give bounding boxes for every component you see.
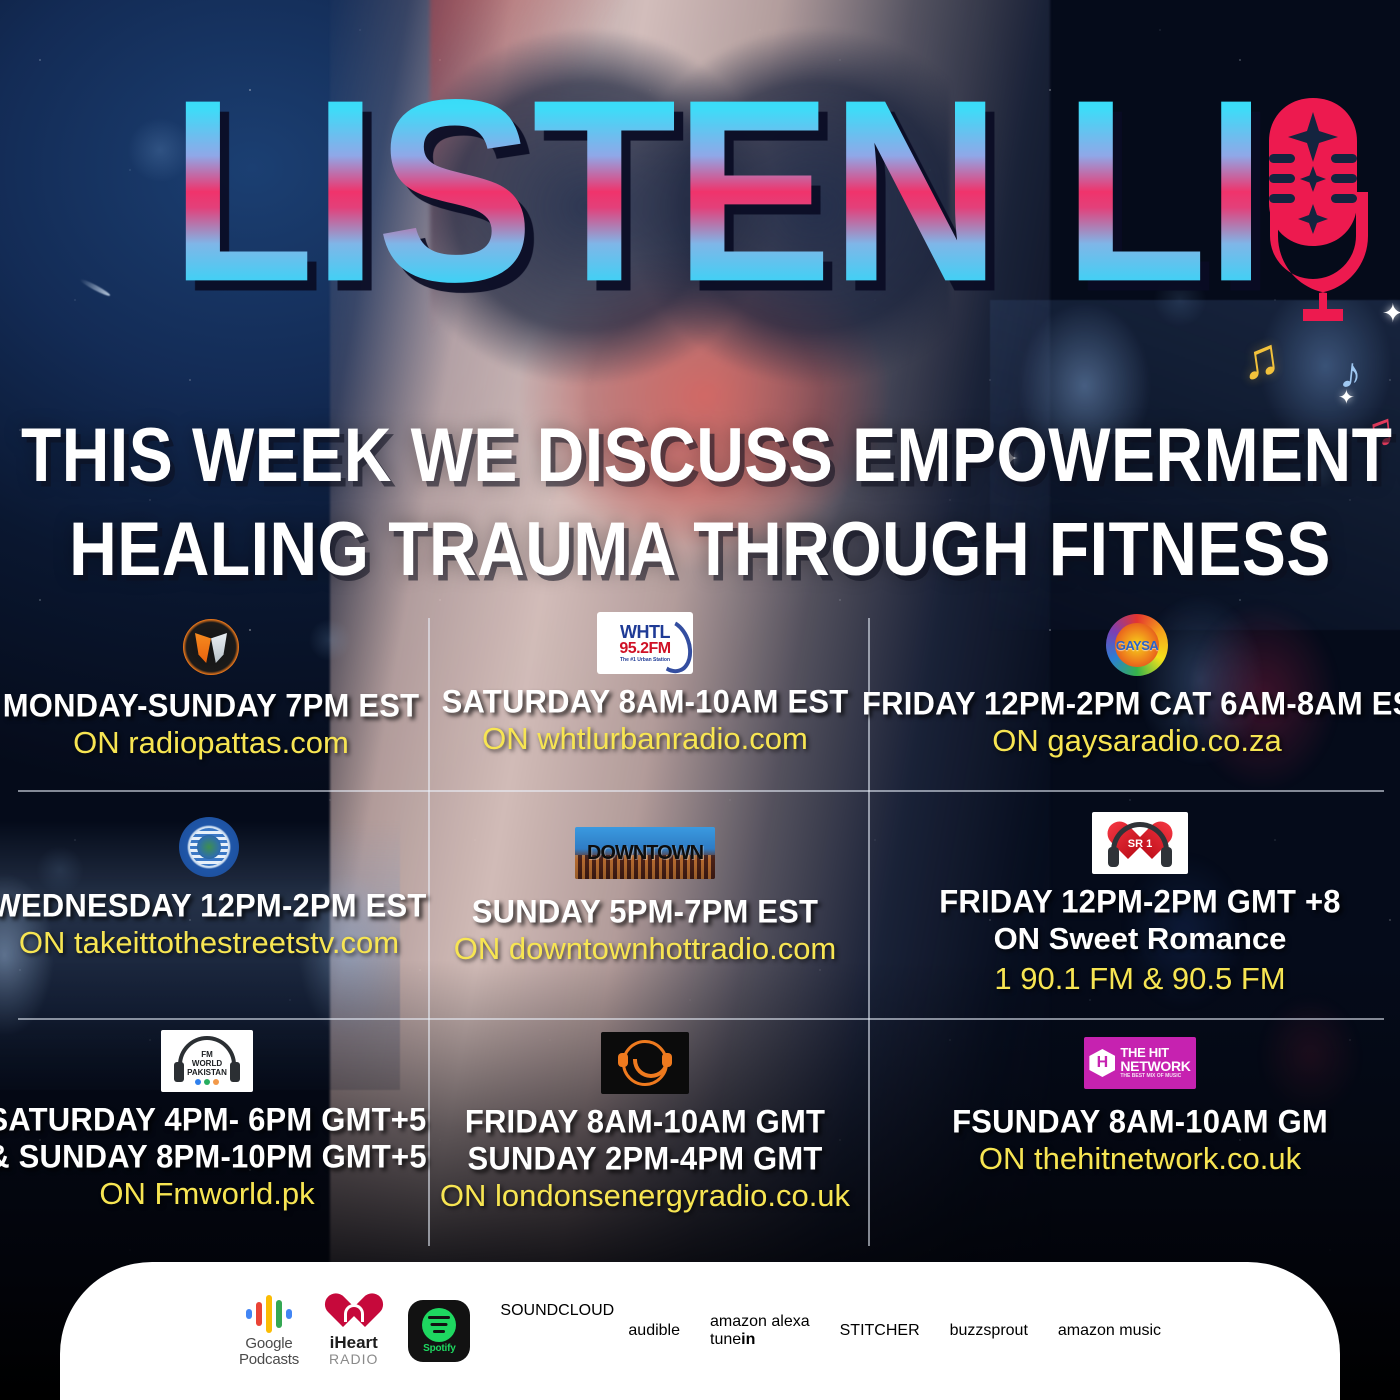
tunein-label-a: tune <box>710 1331 741 1348</box>
whtl-tagline: The #1 Urban Station <box>620 657 670 664</box>
stitcher-icon: STITCHER <box>840 1322 920 1340</box>
the-hit-network-logo: H THE HIT NETWORK THE BEST MIX OF MUSIC <box>1084 1037 1196 1089</box>
gaysa-wordmark: GAYSA <box>1116 638 1159 653</box>
downtown-hot-radio-logo: DOWNTOWN <box>575 827 715 879</box>
platform-audible[interactable]: audible <box>628 1322 680 1340</box>
dot-icon <box>204 1079 210 1085</box>
schedule-time: FRIDAY 12PM-2PM GMT +8 <box>880 882 1400 921</box>
schedule-station-name: ON Sweet Romance <box>880 919 1400 959</box>
google-podcasts-label-line2: Podcasts <box>239 1352 299 1368</box>
radio-pattas-fox-logo <box>183 619 239 675</box>
google-podcasts-label-line1: Google <box>239 1336 299 1352</box>
whtl-95-2-fm-logo: WHTL 95.2FM The #1 Urban Station <box>597 612 693 674</box>
wave <box>431 1323 448 1326</box>
take-it-to-the-streets-tv-logo <box>179 817 239 877</box>
amazon-alexa-tunein-icon: amazon alexa tunein <box>710 1313 810 1349</box>
sr1-wordmark: SR 1 <box>1128 838 1152 850</box>
smiley-icon <box>622 1040 668 1086</box>
schedule-time: FRIDAY 8AM-10AM GMT <box>420 1102 870 1141</box>
schedule-time-2: SUNDAY 2PM-4PM GMT <box>420 1139 870 1178</box>
dot-icon <box>213 1079 219 1085</box>
fmworld-line3: PAKISTAN <box>187 1068 227 1077</box>
station-logo: H THE HIT NETWORK THE BEST MIX OF MUSIC <box>880 1030 1400 1096</box>
schedule-grid: MONDAY-SUNDAY 7PM EST ON radiopattas.com… <box>0 608 1400 1268</box>
schedule-cell[interactable]: MONDAY-SUNDAY 7PM EST ON radiopattas.com <box>0 614 436 763</box>
soundcloud-label: SOUNDCLOUD <box>500 1302 598 1320</box>
schedule-cell[interactable]: GAYSA FRIDAY 12PM-2PM CAT 6AM-8AM EST ON… <box>862 612 1400 761</box>
schedule-time: MONDAY-SUNDAY 7PM EST <box>0 686 436 725</box>
amazon-label: amazon <box>710 1313 767 1330</box>
schedule-time: FRIDAY 12PM-2PM CAT 6AM-8AM EST <box>862 684 1400 723</box>
title-area: LISTEN LIVE <box>0 62 1400 322</box>
sweet-romance-sr1-logo: SR 1 <box>1092 812 1188 874</box>
fmworld-dots <box>195 1079 219 1085</box>
bar <box>266 1295 272 1333</box>
schedule-station-url[interactable]: ON takeittothestreetstv.com <box>0 923 434 963</box>
platform-stitcher[interactable]: STITCHER <box>840 1322 920 1340</box>
iheart-label-line2: RADIO <box>329 1352 378 1367</box>
schedule-frequencies: 1 90.1 FM & 90.5 FM <box>880 959 1400 999</box>
grid-divider-horizontal <box>18 790 1384 792</box>
headphone-ear-icon <box>662 1053 672 1067</box>
spotify-label: Spotify <box>423 1343 456 1354</box>
schedule-station-url[interactable]: ON whtlurbanradio.com <box>420 719 870 759</box>
stitcher-label: STITCHER <box>840 1322 920 1340</box>
google-podcasts-label: Google Podcasts <box>239 1336 299 1368</box>
schedule-cell[interactable]: DOWNTOWN SUNDAY 5PM-7PM EST ON downtownh… <box>420 820 870 969</box>
subtitle: THIS WEEK WE DISCUSS EMPOWERMENT & HEALI… <box>21 408 1379 596</box>
fm-world-pakistan-logo: FM WORLD PAKISTAN <box>161 1030 253 1092</box>
station-logo: SR 1 <box>880 810 1400 876</box>
alexa-label: alexa <box>771 1313 809 1330</box>
schedule-station-url[interactable]: ON downtownhottradio.com <box>420 929 870 969</box>
subtitle-line-1: THIS WEEK WE DISCUSS EMPOWERMENT & <box>21 408 1379 502</box>
platform-spotify[interactable]: Spotify <box>408 1300 470 1362</box>
schedule-time-2: & SUNDAY 8PM-10PM GMT+5 <box>0 1137 432 1176</box>
schedule-station-url[interactable]: ON thehitnetwork.co.uk <box>880 1139 1400 1179</box>
platform-soundcloud[interactable]: SOUNDCLOUD <box>500 1302 598 1360</box>
schedule-time: SATURDAY 8AM-10AM EST <box>420 682 870 721</box>
schedule-time: SATURDAY 4PM- 6PM GMT+5 <box>0 1100 432 1139</box>
platform-google-podcasts[interactable]: Google Podcasts <box>239 1295 299 1368</box>
spotify-icon: Spotify <box>408 1300 470 1362</box>
fmworld-line2: WORLD <box>192 1059 222 1068</box>
gaysa-radio-logo: GAYSA <box>1106 614 1168 676</box>
schedule-station-url[interactable]: ON gaysaradio.co.za <box>862 721 1400 761</box>
amazon-music-label-b: music <box>1119 1322 1161 1339</box>
iheart-label-line1: iHeart <box>330 1334 378 1351</box>
schedule-cell[interactable]: WHTL 95.2FM The #1 Urban Station SATURDA… <box>420 610 870 759</box>
hexagon-h-icon: H <box>1089 1049 1115 1077</box>
iheart-wave-icon <box>344 1304 364 1322</box>
station-logo: FM WORLD PAKISTAN <box>0 1028 432 1094</box>
schedule-cell[interactable]: FRIDAY 8AM-10AM GMT SUNDAY 2PM-4PM GMT O… <box>420 1030 870 1216</box>
station-logo <box>420 1030 870 1096</box>
tunein-label: tunein <box>710 1331 755 1348</box>
spotify-circle-icon <box>422 1308 456 1342</box>
downtown-wordmark: DOWNTOWN <box>587 842 703 865</box>
station-logo: GAYSA <box>862 612 1400 678</box>
headphone-ear-icon <box>618 1053 628 1067</box>
microphone-icon <box>1248 96 1378 331</box>
bar <box>256 1302 262 1326</box>
station-logo: WHTL 95.2FM The #1 Urban Station <box>420 610 870 676</box>
platform-amazon-music[interactable]: amazon music <box>1058 1322 1161 1340</box>
iheart-heart-icon <box>333 1295 375 1333</box>
schedule-cell[interactable]: H THE HIT NETWORK THE BEST MIX OF MUSIC … <box>880 1030 1400 1179</box>
schedule-cell[interactable]: FM WORLD PAKISTAN SATURDAY 4PM- 6PM GMT+… <box>0 1028 432 1214</box>
whtl-frequency: 95.2FM <box>619 641 670 657</box>
schedule-station-url[interactable]: ON Fmworld.pk <box>0 1174 432 1214</box>
platform-iheart-radio[interactable]: iHeart RADIO <box>329 1295 378 1367</box>
music-note-gold-icon: ♫ <box>1236 329 1284 388</box>
wave <box>428 1316 450 1319</box>
schedule-time: WEDNESDAY 12PM-2PM EST <box>0 886 434 925</box>
platform-buzzsprout[interactable]: buzzsprout <box>950 1322 1028 1340</box>
page-title: LISTEN LIVE <box>170 62 1251 322</box>
station-logo <box>0 614 436 680</box>
schedule-station-url[interactable]: ON londonsenergyradio.co.uk <box>420 1176 870 1216</box>
buzzsprout-label: buzzsprout <box>950 1322 1028 1339</box>
soundcloud-icon: SOUNDCLOUD <box>500 1302 598 1360</box>
station-logo: DOWNTOWN <box>420 820 870 886</box>
bar <box>276 1300 282 1328</box>
amazon-music-icon: amazon music <box>1058 1322 1161 1340</box>
hit-line2: NETWORK <box>1120 1059 1190 1073</box>
bar <box>286 1309 292 1319</box>
schedule-time: FSUNDAY 8AM-10AM GM <box>880 1102 1400 1141</box>
dot-icon <box>195 1079 201 1085</box>
station-logo <box>0 814 434 880</box>
londons-energy-radio-logo <box>601 1032 689 1094</box>
bar <box>246 1309 252 1319</box>
google-podcasts-icon <box>246 1295 292 1333</box>
platform-amazon-alexa-tunein[interactable]: amazon alexa tunein <box>710 1313 810 1349</box>
schedule-cell[interactable]: WEDNESDAY 12PM-2PM EST ON takeittothestr… <box>0 814 434 963</box>
hit-tagline: THE BEST MIX OF MUSIC <box>1120 1073 1190 1080</box>
tunein-label-b: in <box>741 1331 755 1348</box>
audible-icon: audible <box>628 1322 680 1340</box>
podcast-platforms-bar: Google Podcasts iHeart RADIO Spotify <box>60 1262 1340 1400</box>
music-note-blue-icon: ♪ <box>1338 351 1364 397</box>
poster-root: ✦ ✦ ✦ LISTEN LIVE ♫ ♪ ♫ <box>0 0 1400 1400</box>
amazon-music-label-a: amazon <box>1058 1322 1115 1339</box>
buzzsprout-icon: buzzsprout <box>950 1322 1028 1340</box>
audible-label: audible <box>628 1322 680 1339</box>
whtl-callsign: WHTL <box>620 623 670 641</box>
schedule-cell[interactable]: SR 1 FRIDAY 12PM-2PM GMT +8 ON Sweet Rom… <box>880 810 1400 999</box>
hit-h-letter: H <box>1097 1054 1109 1072</box>
grid-divider-horizontal <box>18 1018 1384 1020</box>
subtitle-line-2: HEALING TRAUMA THROUGH FITNESS <box>21 502 1379 596</box>
hit-wordmark: THE HIT NETWORK THE BEST MIX OF MUSIC <box>1120 1046 1190 1080</box>
wave <box>433 1330 445 1333</box>
schedule-time: SUNDAY 5PM-7PM EST <box>420 892 870 931</box>
schedule-station-url[interactable]: ON radiopattas.com <box>0 723 436 763</box>
fmworld-line1: FM <box>201 1050 213 1059</box>
